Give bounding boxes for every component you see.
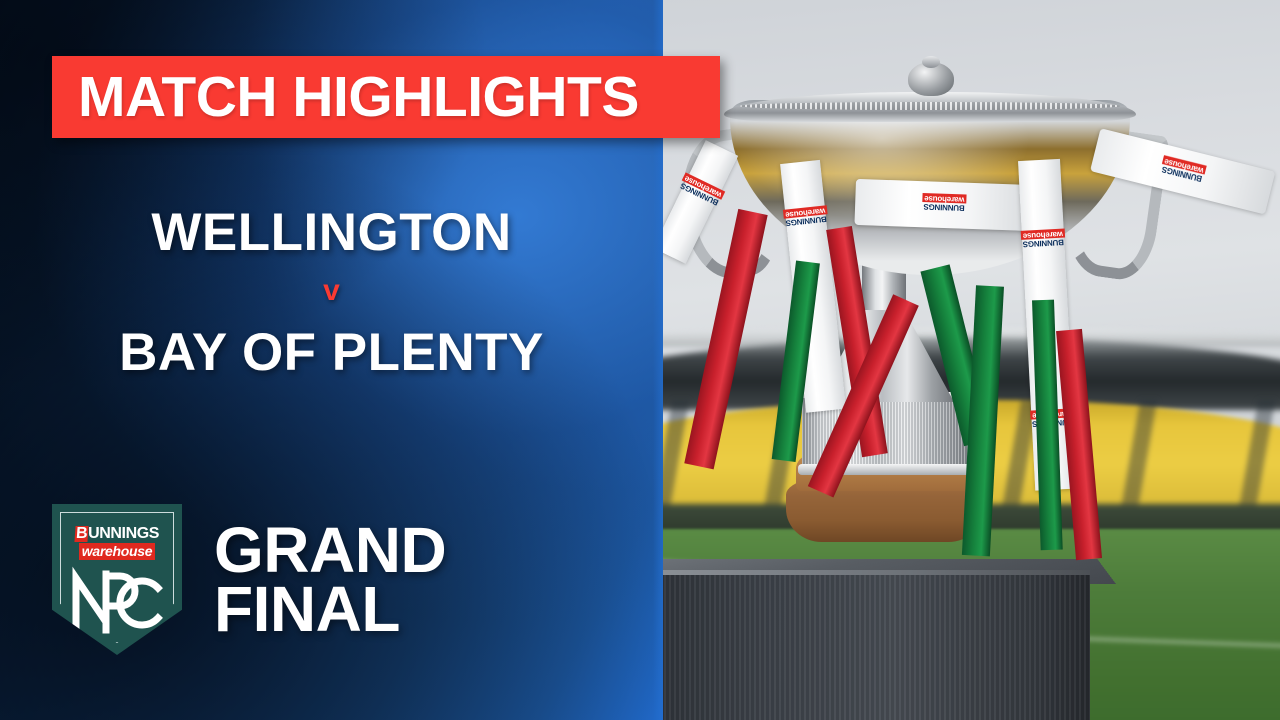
home-team-name: WELLINGTON	[0, 206, 663, 260]
match-highlights-banner: MATCH HIGHLIGHTS	[52, 56, 720, 138]
grand-final-line-2: FINAL	[214, 580, 446, 639]
versus-separator: v	[0, 276, 663, 306]
trophy-finial-pin	[922, 56, 940, 68]
ribbon-sponsor-logo: BUNNINGS warehouse	[783, 205, 829, 226]
bunnings-sponsor-logo: BUNNINGS warehouse	[65, 526, 169, 560]
grand-final-title: GRAND FINAL	[214, 521, 446, 639]
away-team-name: BAY OF PLENTY	[0, 326, 663, 380]
thumbnail-canvas: BUNNINGS warehouse BUNNINGS warehouse BU…	[0, 0, 1280, 720]
plinth-highlight	[654, 570, 1090, 575]
grand-final-line-1: GRAND	[214, 521, 446, 580]
ribbon-sponsor-logo: BUNNINGS warehouse	[1160, 155, 1207, 182]
bunnings-b-initial: B	[74, 526, 88, 542]
matchup-block: WELLINGTON v BAY OF PLENTY	[0, 206, 663, 380]
plinth-body	[654, 570, 1090, 720]
ribbon-sponsor-logo: BUNNINGS warehouse	[922, 193, 967, 211]
ribbon-sponsor-logo: BUNNINGS warehouse	[678, 173, 725, 207]
bunnings-wordmark: BUNNINGS	[75, 526, 159, 542]
match-highlights-label: MATCH HIGHLIGHTS	[52, 69, 639, 126]
ribbon-sponsor-logo: BUNNINGS warehouse	[1021, 229, 1066, 248]
competition-block: BUNNINGS warehouse GRA	[52, 504, 446, 655]
sponsor-ribbon-white: BUNNINGS warehouse	[854, 179, 1033, 231]
npc-monogram	[62, 564, 172, 634]
npc-shield-badge: BUNNINGS warehouse	[52, 504, 182, 655]
warehouse-wordmark: warehouse	[79, 543, 155, 560]
bunnings-wordmark-rest: UNNINGS	[88, 525, 159, 542]
